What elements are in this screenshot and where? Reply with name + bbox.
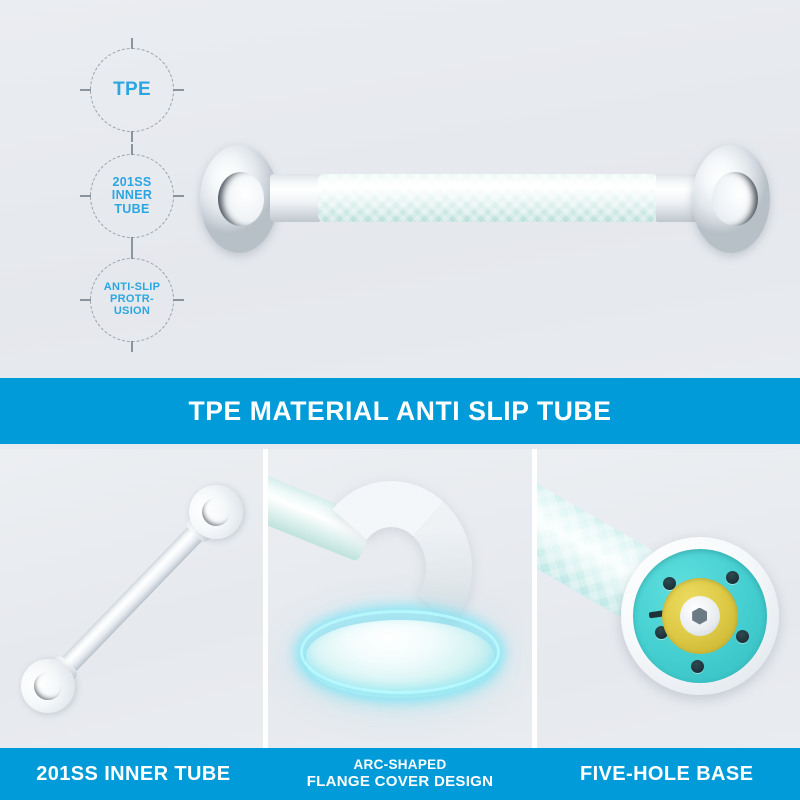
feature-panels — [0, 449, 800, 748]
grab-bar-product-image — [200, 145, 770, 253]
caption-five-hole-base: FIVE-HOLE BASE — [533, 748, 800, 800]
stainless-inner-tube-image — [35, 499, 229, 698]
mounting-hole — [726, 571, 739, 584]
callout-inner-tube: 201SSINNERTUBE — [90, 154, 174, 238]
mounting-hole — [736, 630, 749, 643]
tick-north-icon — [131, 38, 133, 49]
caption-line-1: ARC-SHAPED — [354, 757, 447, 773]
tick-east-icon — [173, 299, 184, 301]
caption-line-2: FLANGE COVER DESIGN — [307, 773, 494, 791]
panel-five-hole-base — [537, 449, 800, 748]
tick-west-icon — [80, 195, 91, 197]
tick-south-icon — [131, 341, 133, 352]
neck-left — [270, 174, 320, 222]
hex-screw-socket-icon — [692, 608, 707, 625]
mounting-hole — [691, 660, 704, 673]
five-hole-base-assembly — [621, 537, 779, 695]
tick-east-icon — [173, 89, 184, 91]
tick-west-icon — [80, 299, 91, 301]
tick-south-icon — [131, 131, 133, 142]
socket-left — [218, 172, 264, 226]
socket-right — [712, 172, 758, 226]
hero-section: TPE 201SSINNERTUBE ANTI-SLIPPROTR-USION — [0, 0, 800, 378]
callout-anti-slip: ANTI-SLIPPROTR-USION — [90, 258, 174, 342]
caption-line-1: FIVE-HOLE BASE — [580, 763, 753, 786]
callout-tpe: TPE — [90, 48, 174, 132]
caption-flange-cover: ARC-SHAPED FLANGE COVER DESIGN — [267, 748, 534, 800]
tick-west-icon — [80, 89, 91, 91]
callout-label-inner-tube: 201SSINNERTUBE — [112, 176, 152, 217]
callout-label-anti-slip: ANTI-SLIPPROTR-USION — [104, 282, 160, 318]
caption-bar: 201SS INNER TUBE ARC-SHAPED FLANGE COVER… — [0, 748, 800, 800]
turquoise-base-plate — [633, 549, 767, 683]
tick-east-icon — [173, 195, 184, 197]
stainless-tube-body — [58, 522, 206, 674]
glow-ring-highlight — [300, 610, 500, 694]
callout-label-tpe: TPE — [113, 80, 151, 101]
tick-north-icon — [131, 144, 133, 155]
panel-flange-cover — [268, 449, 531, 748]
title-banner: TPE MATERIAL ANTI SLIP TUBE — [0, 378, 800, 444]
caption-line-1: 201SS INNER TUBE — [36, 763, 230, 786]
yellow-gasket-ring — [662, 578, 738, 654]
caption-inner-tube: 201SS INNER TUBE — [0, 748, 267, 800]
product-infographic: TPE 201SSINNERTUBE ANTI-SLIPPROTR-USION — [0, 0, 800, 800]
tpe-textured-tube — [318, 174, 658, 222]
center-hub — [680, 596, 720, 636]
banner-title: TPE MATERIAL ANTI SLIP TUBE — [188, 396, 611, 427]
tick-north-icon — [131, 248, 133, 259]
panel-inner-tube — [0, 449, 263, 748]
tick-south-icon — [131, 237, 133, 248]
